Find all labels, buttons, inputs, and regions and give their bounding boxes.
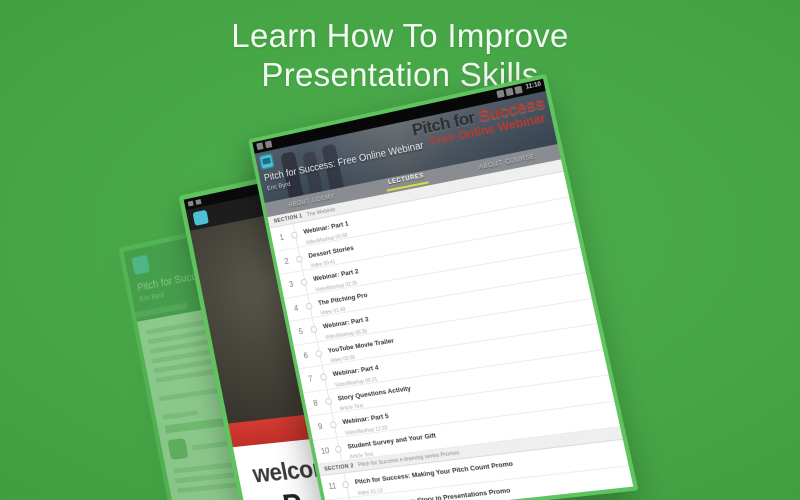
back-course-author: Eric Byrd: [139, 292, 165, 303]
page-title: Learn How To Improve Presentation Skills: [0, 16, 800, 94]
udemy-app-icon[interactable]: [259, 153, 275, 170]
status-bar-left-icons: [256, 140, 272, 150]
lecture-number: 4: [286, 302, 307, 314]
lecture-number: 2: [276, 255, 297, 267]
lecture-number: 8: [305, 397, 327, 409]
headline-line-1: Learn How To Improve: [231, 17, 568, 54]
headline-line-2: Presentation Skills: [0, 55, 800, 94]
lecture-number: 1: [271, 232, 292, 244]
notification-icon: [265, 140, 272, 148]
sync-icon: [496, 90, 504, 99]
lecture-number: 7: [300, 373, 321, 385]
lecture-number: 5: [290, 326, 311, 338]
screenshot-icon: [256, 142, 263, 150]
lecture-number: 11: [322, 481, 344, 492]
lecture-number: 3: [281, 279, 302, 291]
udemy-app-icon: [193, 210, 209, 226]
lecture-status-dot[interactable]: [300, 279, 308, 287]
battery-icon: [514, 86, 523, 95]
udemy-app-icon: [132, 255, 151, 275]
lecture-list[interactable]: SECTION 1The Webinar1Webinar: Part 1Vide…: [268, 159, 634, 500]
large-letter: P: [280, 488, 306, 500]
lecture-number: 10: [314, 445, 336, 456]
lecture-number: 6: [295, 350, 316, 362]
clock-time: 11:10: [525, 81, 542, 91]
lecture-status-dot[interactable]: [310, 326, 318, 334]
promo-screenshot: Learn How To Improve Presentation Skills…: [0, 0, 800, 500]
front-tablet-screen: 11:10 Pitch for Success Free Online Webi…: [252, 79, 633, 500]
lecture-title: Webinar: Part 5: [342, 413, 389, 426]
lecture-number: 9: [310, 421, 332, 432]
wifi-icon: [505, 88, 514, 97]
lecture-status-dot[interactable]: [291, 231, 299, 239]
